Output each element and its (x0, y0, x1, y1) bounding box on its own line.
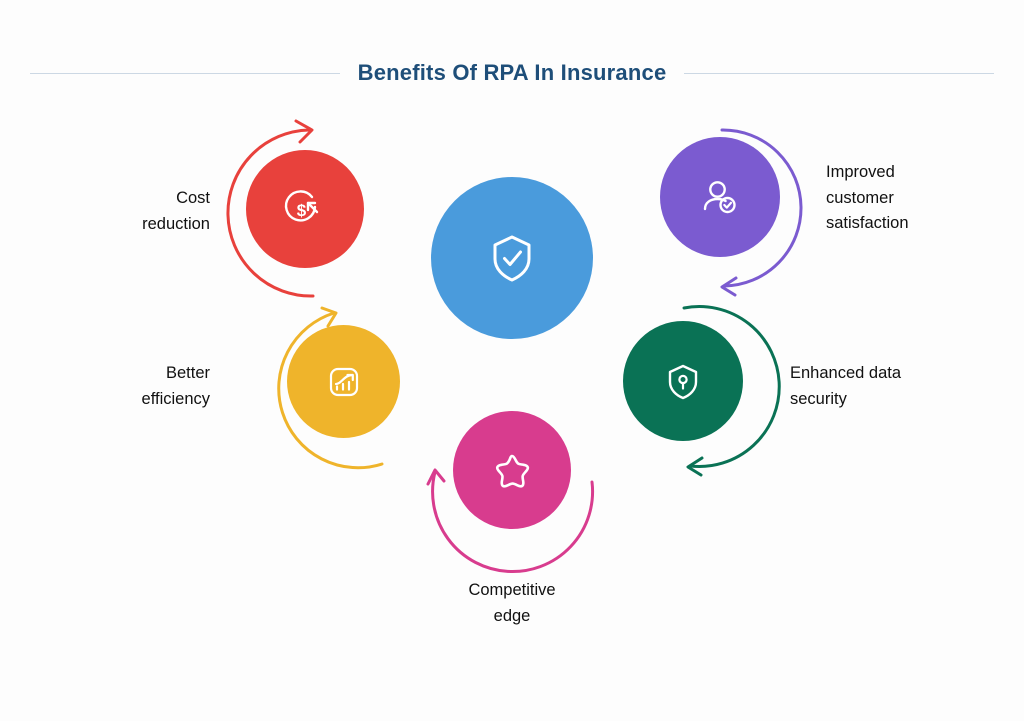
central-circle[interactable] (431, 177, 593, 339)
benefit-label-enhanced-data-security: Enhanced data security (790, 361, 1010, 412)
svg-text:$: $ (297, 201, 307, 220)
page-title: Benefits Of RPA In Insurance (358, 60, 667, 86)
benefit-label-competitive-edge: Competitive edge (412, 578, 612, 629)
star-icon (485, 443, 539, 497)
benefit-label-improved-customer-satisfaction: Improved customer satisfaction (826, 160, 1024, 237)
benefit-label-better-efficiency: Better efficiency (30, 361, 210, 412)
infographic-canvas: Benefits Of RPA In Insurance $ Cost redu… (0, 0, 1024, 721)
benefit-circle-competitive-edge[interactable] (453, 411, 571, 529)
title-rule-right (684, 73, 994, 74)
benefit-circle-better-efficiency[interactable] (287, 325, 400, 438)
benefit-circle-cost-reduction[interactable]: $ (246, 150, 364, 268)
shield-keyhole-icon (658, 356, 708, 406)
benefit-circle-improved-customer-satisfaction[interactable] (660, 137, 780, 257)
growth-chart-icon (320, 358, 368, 406)
dollar-decrease-icon: $ (279, 183, 331, 235)
benefit-label-cost-reduction: Cost reduction (30, 186, 210, 237)
user-check-icon (694, 171, 746, 223)
benefit-circle-enhanced-data-security[interactable] (623, 321, 743, 441)
page-title-row: Benefits Of RPA In Insurance (0, 60, 1024, 86)
shield-check-icon (479, 225, 545, 291)
title-rule-left (30, 73, 340, 74)
